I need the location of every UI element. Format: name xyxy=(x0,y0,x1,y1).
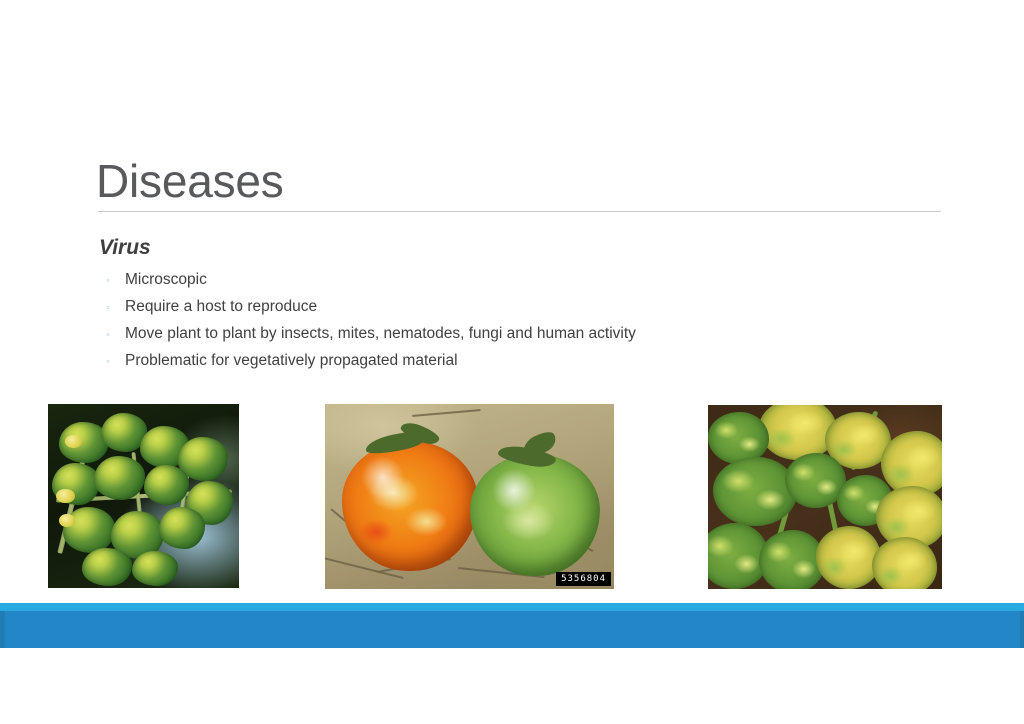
section-subheading: Virus xyxy=(99,234,151,261)
slide-canvas: Diseases Virus ◦ Microscopic ◦ Require a… xyxy=(0,0,1024,724)
cucurbit-leaves-mosaic-photo xyxy=(708,405,942,589)
bullet-circle-icon: ◦ xyxy=(103,268,125,295)
photo-watermark: 5356804 xyxy=(556,572,611,586)
footer-bar-left-edge xyxy=(0,611,5,648)
list-item: ◦ Problematic for vegetatively propagate… xyxy=(103,347,923,374)
footer-bar xyxy=(0,611,1024,648)
list-item: ◦ Move plant to plant by insects, mites,… xyxy=(103,320,923,347)
list-item: ◦ Require a host to reproduce xyxy=(103,293,923,320)
tomato-fruit-symptoms-photo: 5356804 xyxy=(325,404,614,589)
bullet-circle-icon: ◦ xyxy=(103,349,125,376)
list-item-label: Move plant to plant by insects, mites, n… xyxy=(125,320,636,347)
infected-green-tomato xyxy=(470,454,600,576)
bullet-list: ◦ Microscopic ◦ Require a host to reprod… xyxy=(103,266,923,374)
bullet-circle-icon: ◦ xyxy=(103,295,125,322)
bullet-circle-icon: ◦ xyxy=(103,322,125,349)
list-item-label: Problematic for vegetatively propagated … xyxy=(125,347,458,374)
list-item-label: Require a host to reproduce xyxy=(125,293,317,320)
footer-bar-right-edge xyxy=(1020,611,1024,648)
list-item-label: Microscopic xyxy=(125,266,207,293)
photo-background xyxy=(48,404,239,588)
photo-background xyxy=(708,405,942,589)
tomato-foliage-mosaic-photo xyxy=(48,404,239,588)
footer-accent-stripe xyxy=(0,603,1024,611)
list-item: ◦ Microscopic xyxy=(103,266,923,293)
infected-red-tomato xyxy=(342,441,478,571)
photo-background: 5356804 xyxy=(325,404,614,589)
page-title: Diseases xyxy=(96,154,284,208)
title-divider xyxy=(98,211,941,212)
